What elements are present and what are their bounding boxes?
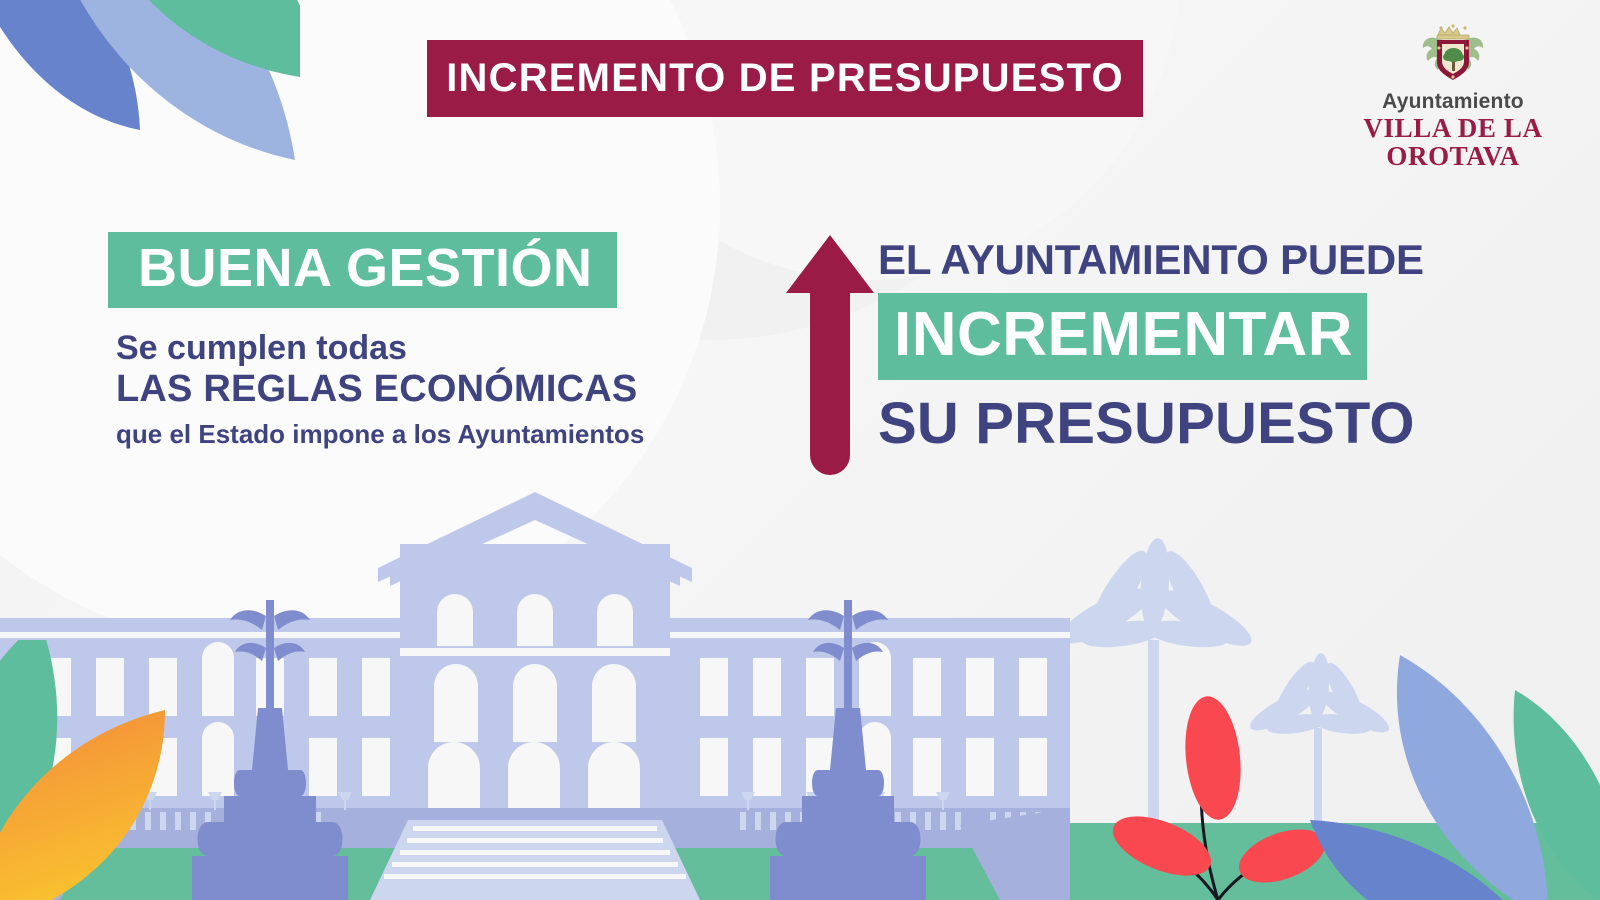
incrementar-highlight: INCREMENTAR	[878, 293, 1367, 380]
header-banner: INCREMENTO DE PRESUPUESTO	[427, 40, 1143, 117]
window-group-middle	[434, 664, 636, 742]
logo-line-ayuntamiento: Ayuntamiento	[1328, 90, 1578, 114]
infographic-canvas: INCREMENTO DE PRESUPUESTO	[0, 0, 1600, 900]
left-message-block: BUENA GESTIÓN Se cumplen todas LAS REGLA…	[108, 232, 748, 450]
left-message-line1: Se cumplen todas	[108, 328, 748, 368]
left-message-line2: LAS REGLAS ECONÓMICAS	[108, 368, 748, 411]
window-group-upper	[437, 594, 633, 646]
leaf-cluster-bottom-right-icon	[1300, 620, 1600, 900]
stairs-icon	[370, 820, 700, 900]
logo-line-municipality: VILLA DE LA OROTAVA	[1328, 114, 1578, 171]
right-message-block: EL AYUNTAMIENTO PUEDE INCREMENTAR SU PRE…	[878, 238, 1498, 455]
right-message-line3: SU PRESUPUESTO	[878, 394, 1498, 455]
right-message-line1: EL AYUNTAMIENTO PUEDE	[878, 238, 1498, 283]
logo-block: Ayuntamiento VILLA DE LA OROTAVA	[1328, 22, 1578, 171]
leaf-cluster-bottom-left-icon	[0, 640, 240, 900]
coat-of-arms-icon	[1414, 22, 1492, 88]
buena-gestion-headline: BUENA GESTIÓN	[108, 232, 617, 308]
banner-title: INCREMENTO DE PRESUPUESTO	[446, 56, 1124, 101]
left-message-line3: que el Estado impone a los Ayuntamientos	[108, 419, 748, 450]
leaf-cluster-top-left-icon	[0, 0, 300, 250]
arrow-up-icon	[784, 231, 876, 481]
